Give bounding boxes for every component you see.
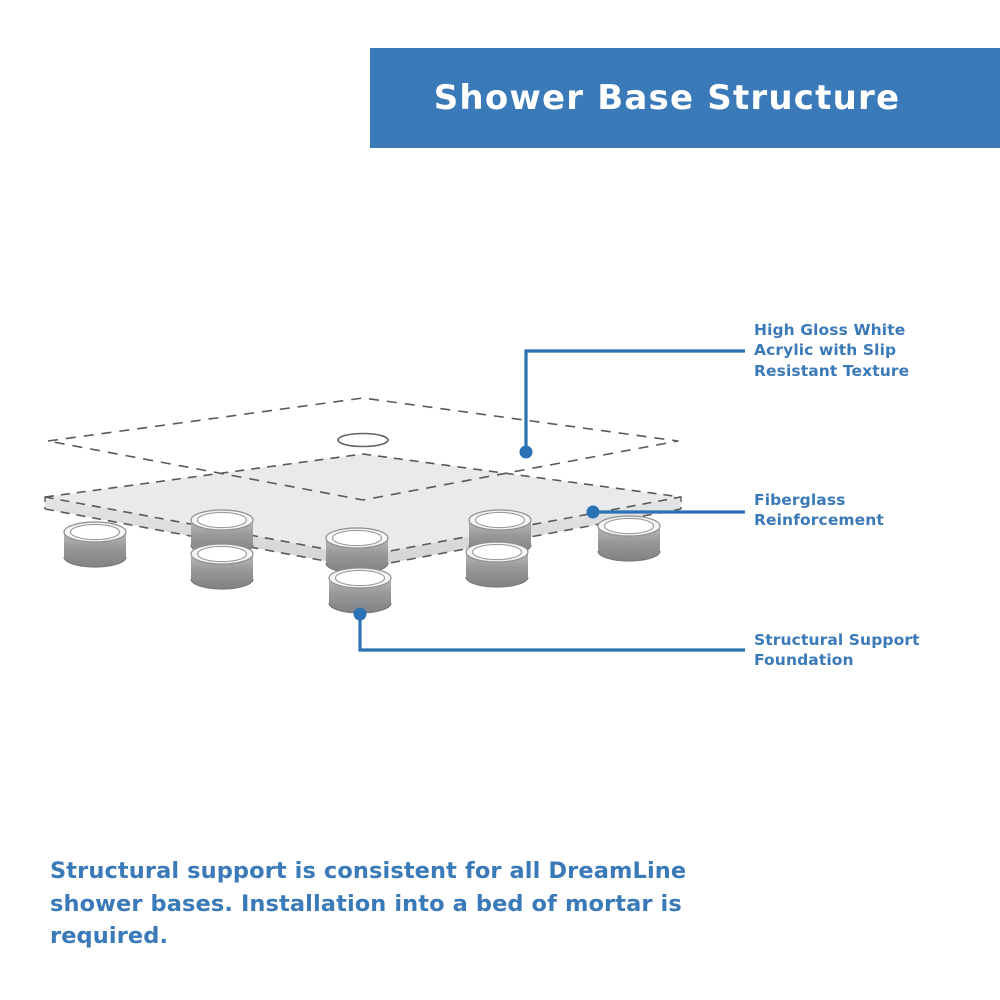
support-ring: [64, 522, 126, 567]
acrylic-panel-outline: [48, 398, 678, 500]
leader-acrylic: [526, 351, 745, 452]
title-banner: Shower Base Structure: [370, 48, 1000, 148]
page-root: Shower Base Structure: [0, 0, 1000, 1000]
slab-side-faces: [45, 497, 681, 568]
slab-top-face: [45, 454, 681, 556]
support-ring: [329, 568, 391, 613]
support-ring: [191, 510, 253, 555]
support-ring: [191, 544, 253, 589]
leader-dot-support: [354, 608, 367, 621]
support-ring: [598, 516, 660, 561]
drain-opening-icon: [338, 434, 388, 447]
leader-dot-acrylic: [520, 446, 533, 459]
slab-bottom-outline: [45, 509, 681, 568]
callout-acrylic-label: High Gloss White Acrylic with Slip Resis…: [754, 320, 984, 381]
structural-support-rings: [64, 510, 660, 613]
support-ring: [469, 510, 531, 555]
callout-fiberglass-label: Fiberglass Reinforcement: [754, 490, 984, 531]
leader-lines: [360, 351, 745, 650]
leader-dot-fiberglass: [587, 506, 600, 519]
leader-dots: [354, 446, 600, 621]
slab-corner-edges: [45, 497, 681, 568]
support-ring: [326, 528, 388, 573]
callout-structural-support-label: Structural Support Foundation: [754, 630, 984, 671]
leader-support: [360, 614, 745, 650]
footer-caption: Structural support is consistent for all…: [50, 855, 690, 953]
page-title: Shower Base Structure: [370, 78, 964, 118]
fiberglass-reinforcement-slab: [45, 454, 681, 568]
acrylic-top-panel: [48, 398, 678, 500]
slab-top-outline: [45, 454, 681, 556]
support-ring: [466, 542, 528, 587]
